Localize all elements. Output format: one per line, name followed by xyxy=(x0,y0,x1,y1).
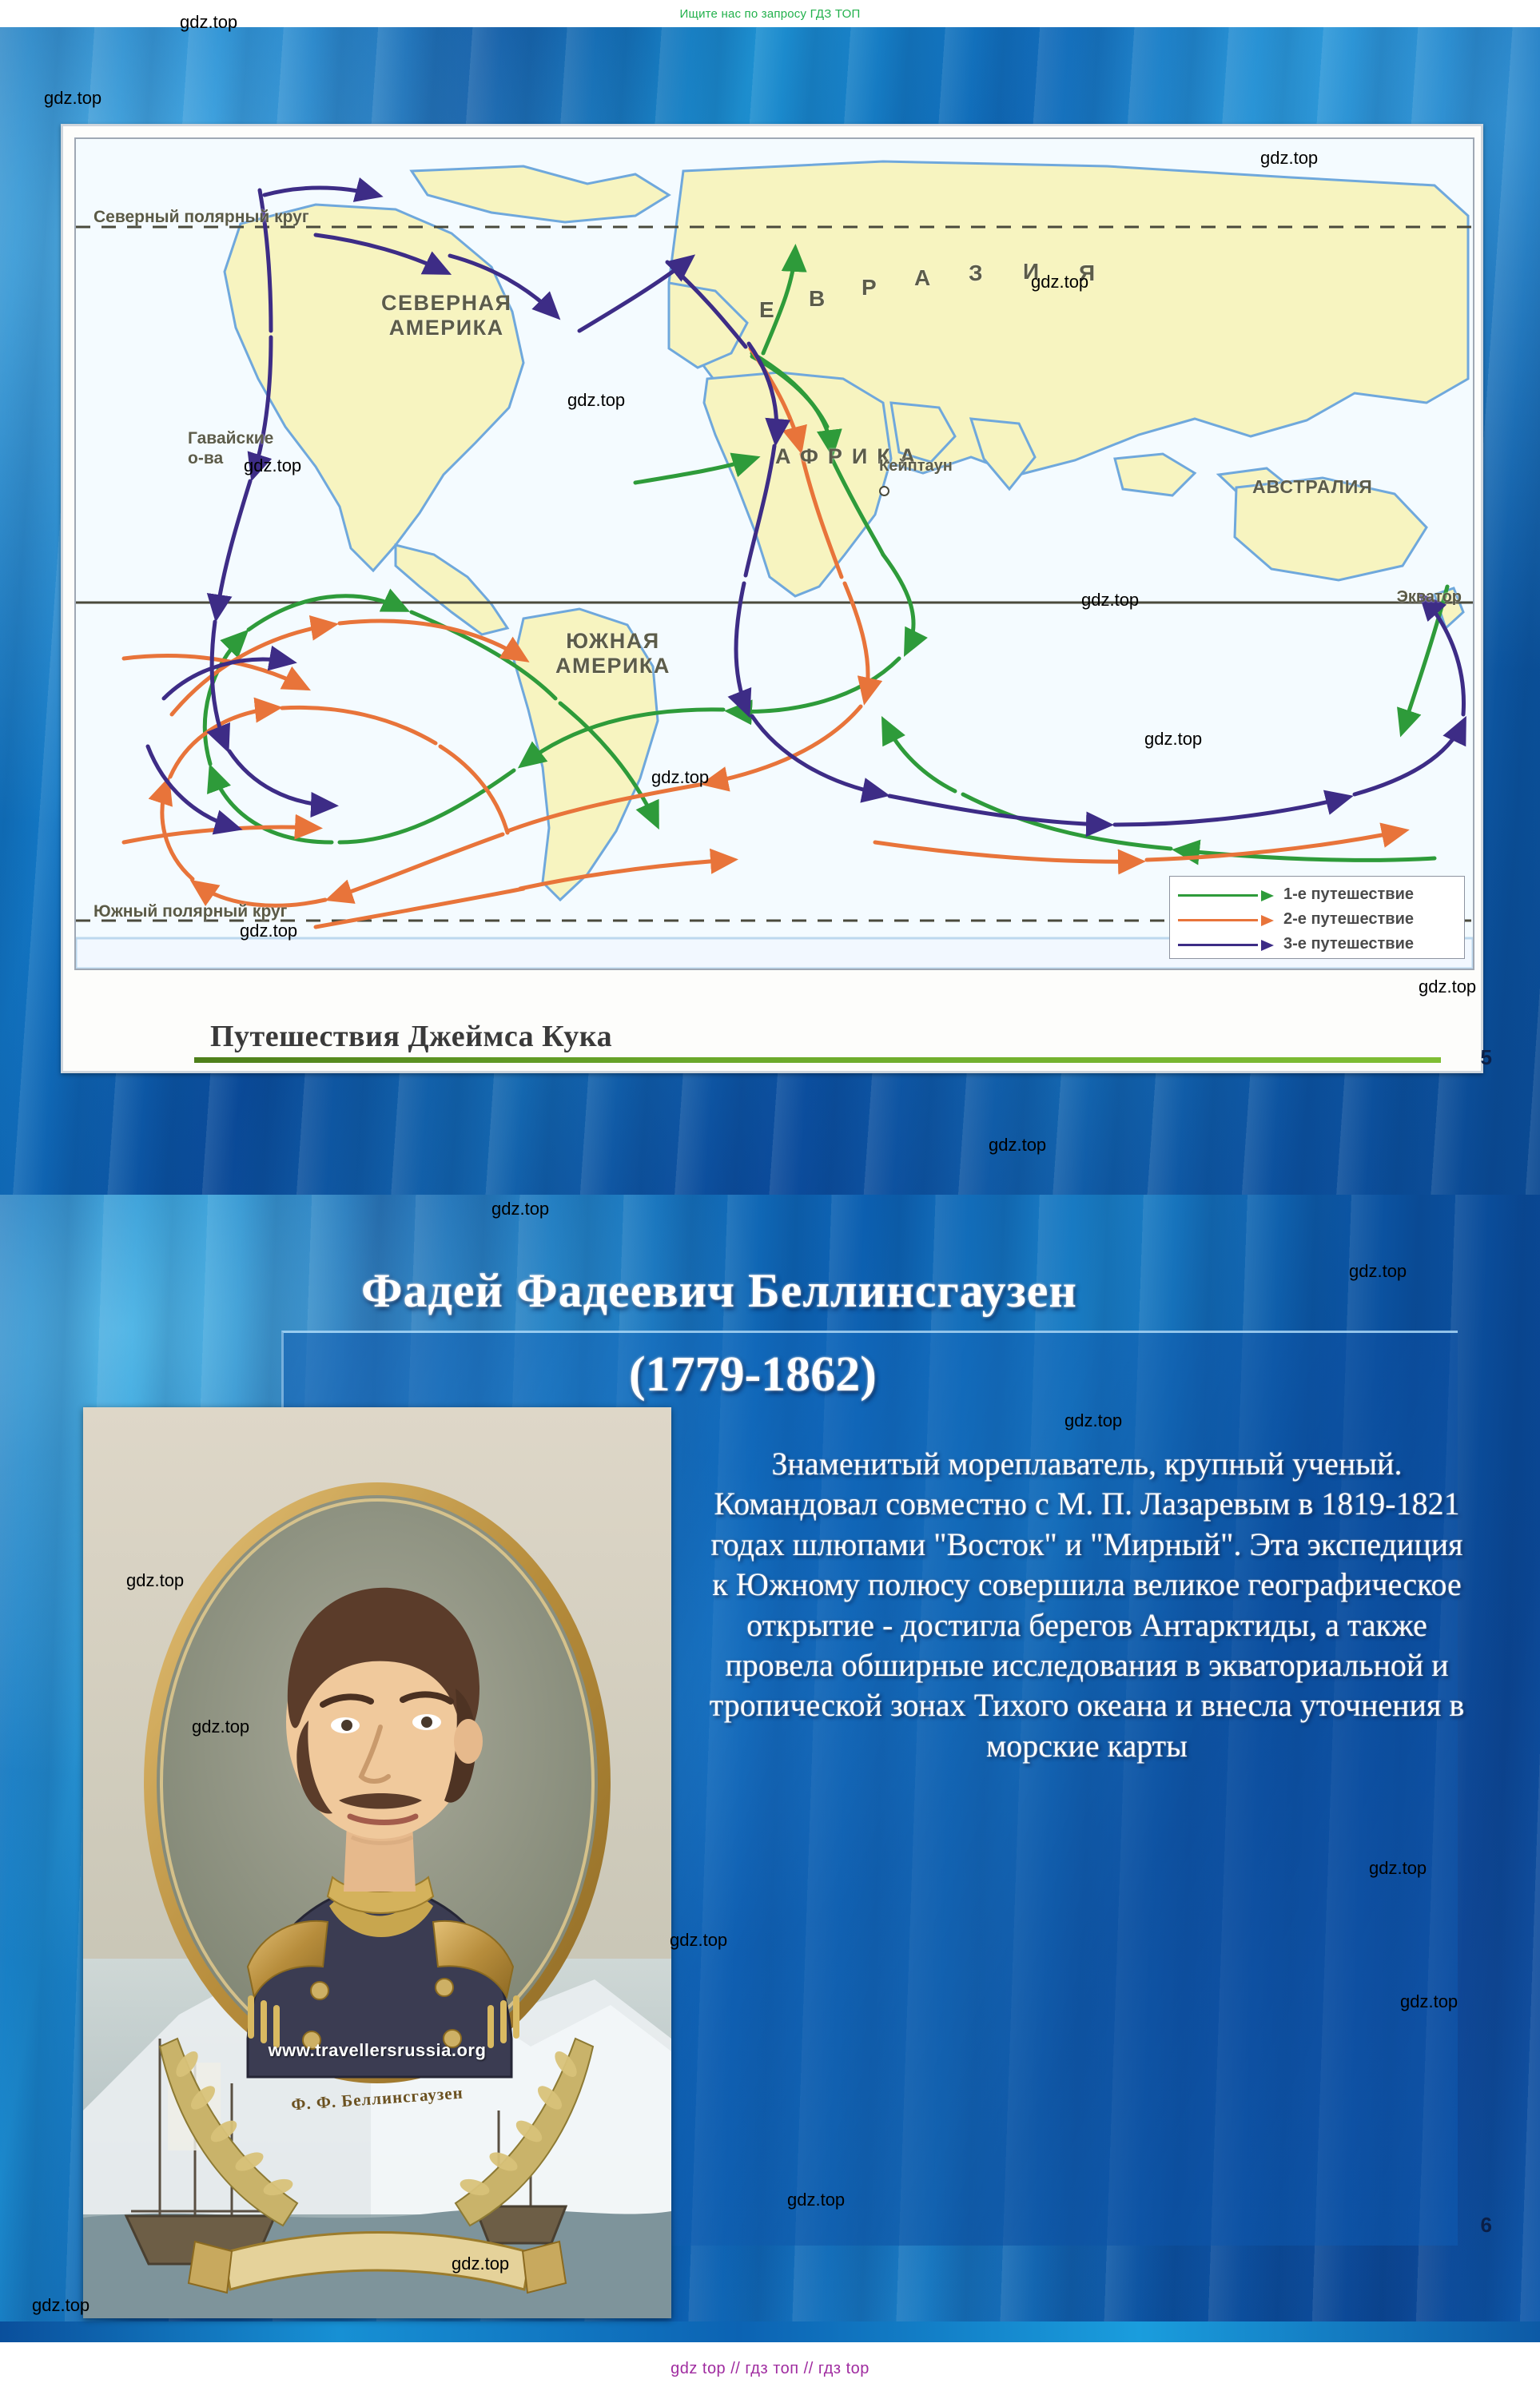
slide-cook-voyages-map: Северный полярный круг Южный полярный кр… xyxy=(0,27,1540,1195)
legend-row-voyage-3: 3-е путешествие xyxy=(1178,932,1456,957)
portrait-card: www.travellersrussia.org Ф. Ф. Беллинсга… xyxy=(83,1407,671,2318)
legend-label-voyage-2: 2-е путешествие xyxy=(1283,910,1414,929)
map-frame: Северный полярный круг Южный полярный кр… xyxy=(61,124,1483,1073)
footer-text: gdz top // гдз топ // гдз top xyxy=(671,2360,869,2378)
map-caption-wrap: Путешествия Джеймса Кука xyxy=(74,1019,1474,1063)
slide-2-life-years: (1779-1862) xyxy=(281,1347,1224,1403)
map-title-underline xyxy=(194,1057,1441,1063)
top-promo-banner-text: Ищите нас по запросу ГДЗ ТОП xyxy=(680,7,861,21)
portrait-source-watermark: www.travellersrussia.org xyxy=(83,2040,671,2061)
map-canvas: Северный полярный круг Южный полярный кр… xyxy=(74,137,1474,970)
portrait-illustration xyxy=(83,1407,671,2318)
slide-2-page-number: 6 xyxy=(1481,2213,1492,2238)
world-map-svg xyxy=(76,139,1473,969)
city-marker-cape-town-icon xyxy=(879,486,889,496)
page-footer: gdz top // гдз топ // гдз top xyxy=(0,2342,1540,2395)
legend-arrow-voyage-3-icon xyxy=(1178,940,1274,949)
slide-2-title: Фадей Фадеевич Беллинсгаузен xyxy=(0,1263,1439,1319)
legend-label-voyage-1: 1-е путешествие xyxy=(1283,885,1414,904)
legend-label-voyage-3: 3-е путешествие xyxy=(1283,935,1414,953)
slide-1-page-number: 5 xyxy=(1481,1045,1492,1070)
bottom-decorative-bar xyxy=(0,2321,1540,2342)
legend-arrow-voyage-1-icon xyxy=(1178,890,1274,900)
legend-row-voyage-1: 1-е путешествие xyxy=(1178,882,1456,907)
slide-2-body-text: Знаменитый мореплаватель, крупный ученый… xyxy=(703,1444,1470,1766)
map-legend: 1-е путешествие 2-е путешествие 3-е путе… xyxy=(1169,876,1465,959)
legend-arrow-voyage-2-icon xyxy=(1178,915,1274,925)
map-title: Путешествия Джеймса Кука xyxy=(210,1019,1474,1054)
legend-row-voyage-2: 2-е путешествие xyxy=(1178,907,1456,932)
top-promo-banner: Ищите нас по запросу ГДЗ ТОП xyxy=(0,0,1540,27)
